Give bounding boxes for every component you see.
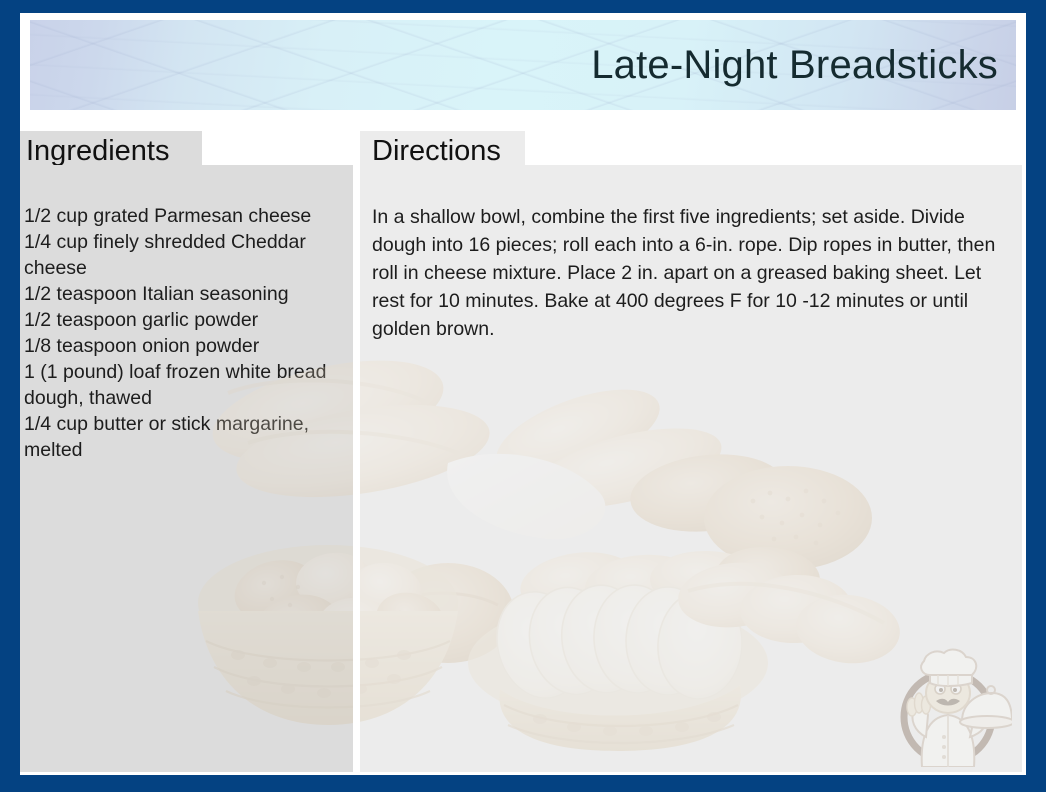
directions-panel: In a shallow bowl, combine the first fiv… [360,165,1022,772]
slide-canvas: Late-Night Breadsticks Ingredients Direc… [20,13,1026,775]
ingredients-panel: 1/2 cup grated Parmesan cheese 1/4 cup f… [20,165,353,772]
title-banner: Late-Night Breadsticks [30,20,1016,110]
directions-body-text: In a shallow bowl, combine the first fiv… [372,203,1017,343]
recipe-slide: Late-Night Breadsticks Ingredients Direc… [0,0,1046,792]
panel-divider [353,165,360,772]
section-heading-ingredients-label: Ingredients [26,135,170,168]
page-title: Late-Night Breadsticks [591,45,998,85]
ingredients-text: 1/2 cup grated Parmesan cheese 1/4 cup f… [24,203,350,463]
section-heading-directions-label: Directions [372,135,501,168]
